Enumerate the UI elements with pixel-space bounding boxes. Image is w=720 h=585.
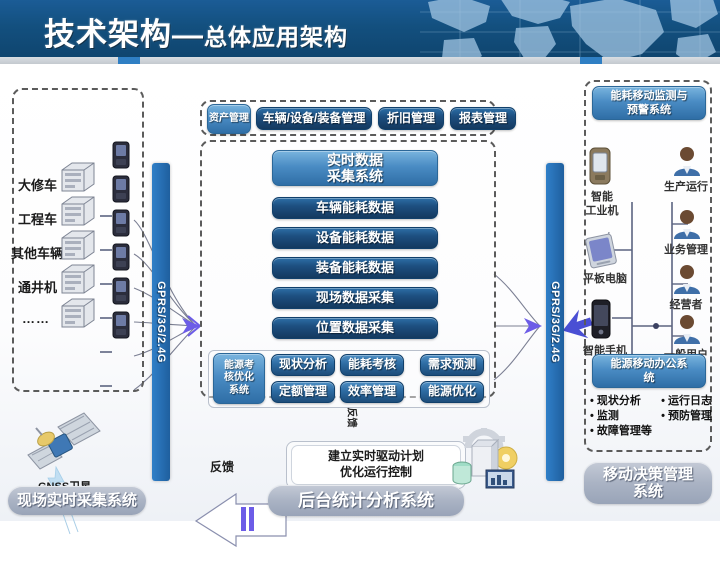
demand-forecast-button[interactable]: 需求预测 [420,354,484,376]
bullet-0-0: • 现状分析 [590,394,641,409]
center-system-caption: 后台统计分析系统 [268,485,464,516]
header-underline [0,57,720,64]
world-map-graphic [420,0,720,57]
page-title-dash: — [172,17,204,52]
energy-assessment-item-button[interactable]: 能耗考核 [340,354,404,376]
quota-management-label: 定额管理 [279,385,327,399]
energy-mobile-office-line2: 统 [644,371,655,385]
server-icon [58,228,98,262]
efficiency-management-label: 效率管理 [348,385,396,399]
handheld-terminal-icon [110,140,134,170]
energy-monitor-alert-line1: 能耗移动监测与 [611,89,688,103]
energy-assessment-system-button[interactable]: 能源考 核优化 系统 [213,353,265,404]
server-icon [58,262,98,296]
page-header: 技术架构—总体应用架构 [0,0,720,57]
site-data-collection-button[interactable]: 现场数据采集 [272,287,438,309]
site-data-collection-label: 现场数据采集 [316,291,394,306]
tablet-icon [584,232,618,270]
link-right-gprs: GPRS/3G/2.4G [546,163,564,481]
satellite-icon [20,409,106,481]
user-avatar-icon [670,207,704,241]
vehicle-equipment-management-button[interactable]: 车辆/设备/装备管理 [256,107,372,130]
user-avatar-icon [670,312,704,346]
handheld-terminal-icon [110,208,134,238]
status-analysis-label: 现状分析 [279,358,327,372]
energy-monitor-alert-line2: 预警系统 [627,103,671,117]
feedback-down-label-wrap: 反馈 [345,400,361,434]
quota-management-button[interactable]: 定额管理 [271,381,335,403]
handheld-terminal-icon [110,242,134,272]
energy-mobile-office-line1: 能源移动办公系 [611,357,688,371]
header-tick-left [118,57,140,64]
asset-management-button[interactable]: 资产管理 [207,104,251,134]
right-system-caption: 移动决策管理 系统 [584,462,712,504]
location-data-collection-button[interactable]: 位置数据采集 [272,317,438,339]
vehicle-label-4: …… [22,311,50,326]
energy-optimization-button[interactable]: 能源优化 [420,381,484,403]
header-tick-right [580,57,602,64]
realtime-collection-line1: 实时数据 [327,152,383,168]
vehicle-equipment-management-label: 车辆/设备/装备管理 [263,112,366,126]
equipment-energy-data-button[interactable]: 设备能耗数据 [272,227,438,249]
vehicle-energy-data-label: 车辆能耗数据 [316,201,394,216]
vehicle-energy-data-button[interactable]: 车辆能耗数据 [272,197,438,219]
demand-forecast-label: 需求预测 [428,358,476,372]
device-label-0-line2: 工业机 [580,202,624,218]
depreciation-management-button[interactable]: 折旧管理 [378,107,444,130]
role-label-2: 经营者 [656,296,716,312]
control-box-line1: 建立实时驱动计划 [328,449,424,465]
energy-optimization-label: 能源优化 [428,385,476,399]
server-icon [58,160,98,194]
vehicle-label-3: 通井机 [18,277,57,296]
link-right-gprs-label: GPRS/3G/2.4G [549,281,561,363]
apparatus-energy-data-button[interactable]: 装备能耗数据 [272,257,438,279]
report-management-button[interactable]: 报表管理 [450,107,516,130]
server-icon [58,194,98,228]
device-label-1-line1: 平板电脑 [578,270,632,286]
user-avatar-icon [670,144,704,178]
energy-monitor-alert-system-button[interactable]: 能耗移动监测与 预警系统 [592,86,706,120]
right-system-caption-line2: 系统 [633,483,663,500]
realtime-drive-plan-box[interactable]: 建立实时驱动计划 优化运行控制 [291,445,461,485]
equipment-energy-data-label: 设备能耗数据 [316,231,394,246]
energy-assessment-line1: 能源考 [224,360,254,373]
bullet-0-1: • 运行日志 [661,394,712,409]
handheld-terminal-icon [110,276,134,306]
link-left-gprs-label: GPRS/3G/2.4G [155,281,167,363]
bullet-1-0: • 监测 [590,409,619,424]
page-title: 技术架构—总体应用架构 [44,9,348,54]
feature-bullet-list: • 现状分析 • 运行日志 • 监测 • 预防管理 • 故障管理等 [590,394,712,439]
rugged-pda-icon [588,146,612,186]
role-label-1: 业务管理 [654,241,718,257]
feedback-down-label: 反馈 [346,407,361,427]
left-system-caption-text: 现场实时采集系统 [17,492,137,509]
energy-assessment-line3: 系统 [229,385,249,398]
left-system-caption: 现场实时采集系统 [8,486,146,515]
energy-assessment-item-label: 能耗考核 [348,358,396,372]
gear-database-chart-icon [448,428,522,490]
vehicle-label-0: 大修车 [18,175,57,194]
diagram-canvas: 大修车 工程车 其他车辆 通井机 …… [0,64,720,521]
bullet-1-1: • 预防管理 [661,409,712,424]
energy-mobile-office-system-button[interactable]: 能源移动办公系 统 [592,354,706,388]
server-icon [58,296,98,330]
status-analysis-button[interactable]: 现状分析 [271,354,335,376]
location-data-collection-label: 位置数据采集 [316,321,394,336]
role-label-0: 生产运行 [654,178,718,194]
energy-assessment-line2: 核优化 [224,372,254,385]
control-box-line2: 优化运行控制 [340,465,412,481]
depreciation-management-label: 折旧管理 [387,112,435,126]
page-title-main: 技术架构 [44,17,172,52]
bullet-2-0: • 故障管理等 [590,424,652,439]
page-title-sub: 总体应用架构 [204,24,348,50]
realtime-collection-line2: 采集系统 [327,168,383,184]
apparatus-energy-data-label: 装备能耗数据 [316,261,394,276]
user-avatar-icon [670,262,704,296]
realtime-collection-system-button[interactable]: 实时数据 采集系统 [272,150,438,186]
center-system-caption-text: 后台统计分析系统 [298,491,434,511]
vehicle-label-2: 其他车辆 [11,243,63,262]
feedback-left-label: 反馈 [210,458,234,475]
link-left-gprs: GPRS/3G/2.4G [152,163,170,481]
report-management-label: 报表管理 [459,112,507,126]
asset-management-button-label: 资产管理 [209,113,249,125]
vehicle-label-1: 工程车 [18,209,57,228]
right-system-caption-line1: 移动决策管理 [603,466,693,483]
smartphone-icon [590,298,612,340]
handheld-terminal-icon [110,310,134,340]
handheld-terminal-icon [110,174,134,204]
